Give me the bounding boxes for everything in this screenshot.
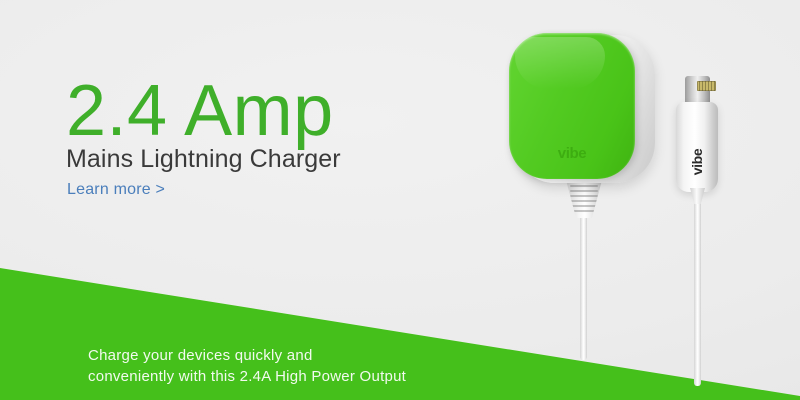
promo-description: Charge your devices quickly and convenie… xyxy=(88,345,406,387)
mains-charger-product: vibe xyxy=(509,33,655,185)
charger-green-face: vibe xyxy=(509,33,635,179)
connector-white-body: vibe xyxy=(676,102,718,192)
page-title: 2.4 Amp xyxy=(66,72,486,150)
connector-gold-pins xyxy=(697,81,716,91)
headline-copy-block: 2.4 Amp Mains Lightning Charger Learn mo… xyxy=(66,72,486,150)
vibe-logo-connector: vibe xyxy=(689,149,705,175)
learn-more-link[interactable]: Learn more > xyxy=(67,180,165,200)
subheadline: Mains Lightning Charger xyxy=(66,145,341,173)
lightning-connector-product: vibe xyxy=(676,76,718,192)
connector-cable xyxy=(694,186,701,386)
product-promo-banner: 2.4 Amp Mains Lightning Charger Learn mo… xyxy=(0,0,800,400)
charger-cable xyxy=(580,200,587,360)
vibe-logo-charger: vibe xyxy=(509,145,635,162)
